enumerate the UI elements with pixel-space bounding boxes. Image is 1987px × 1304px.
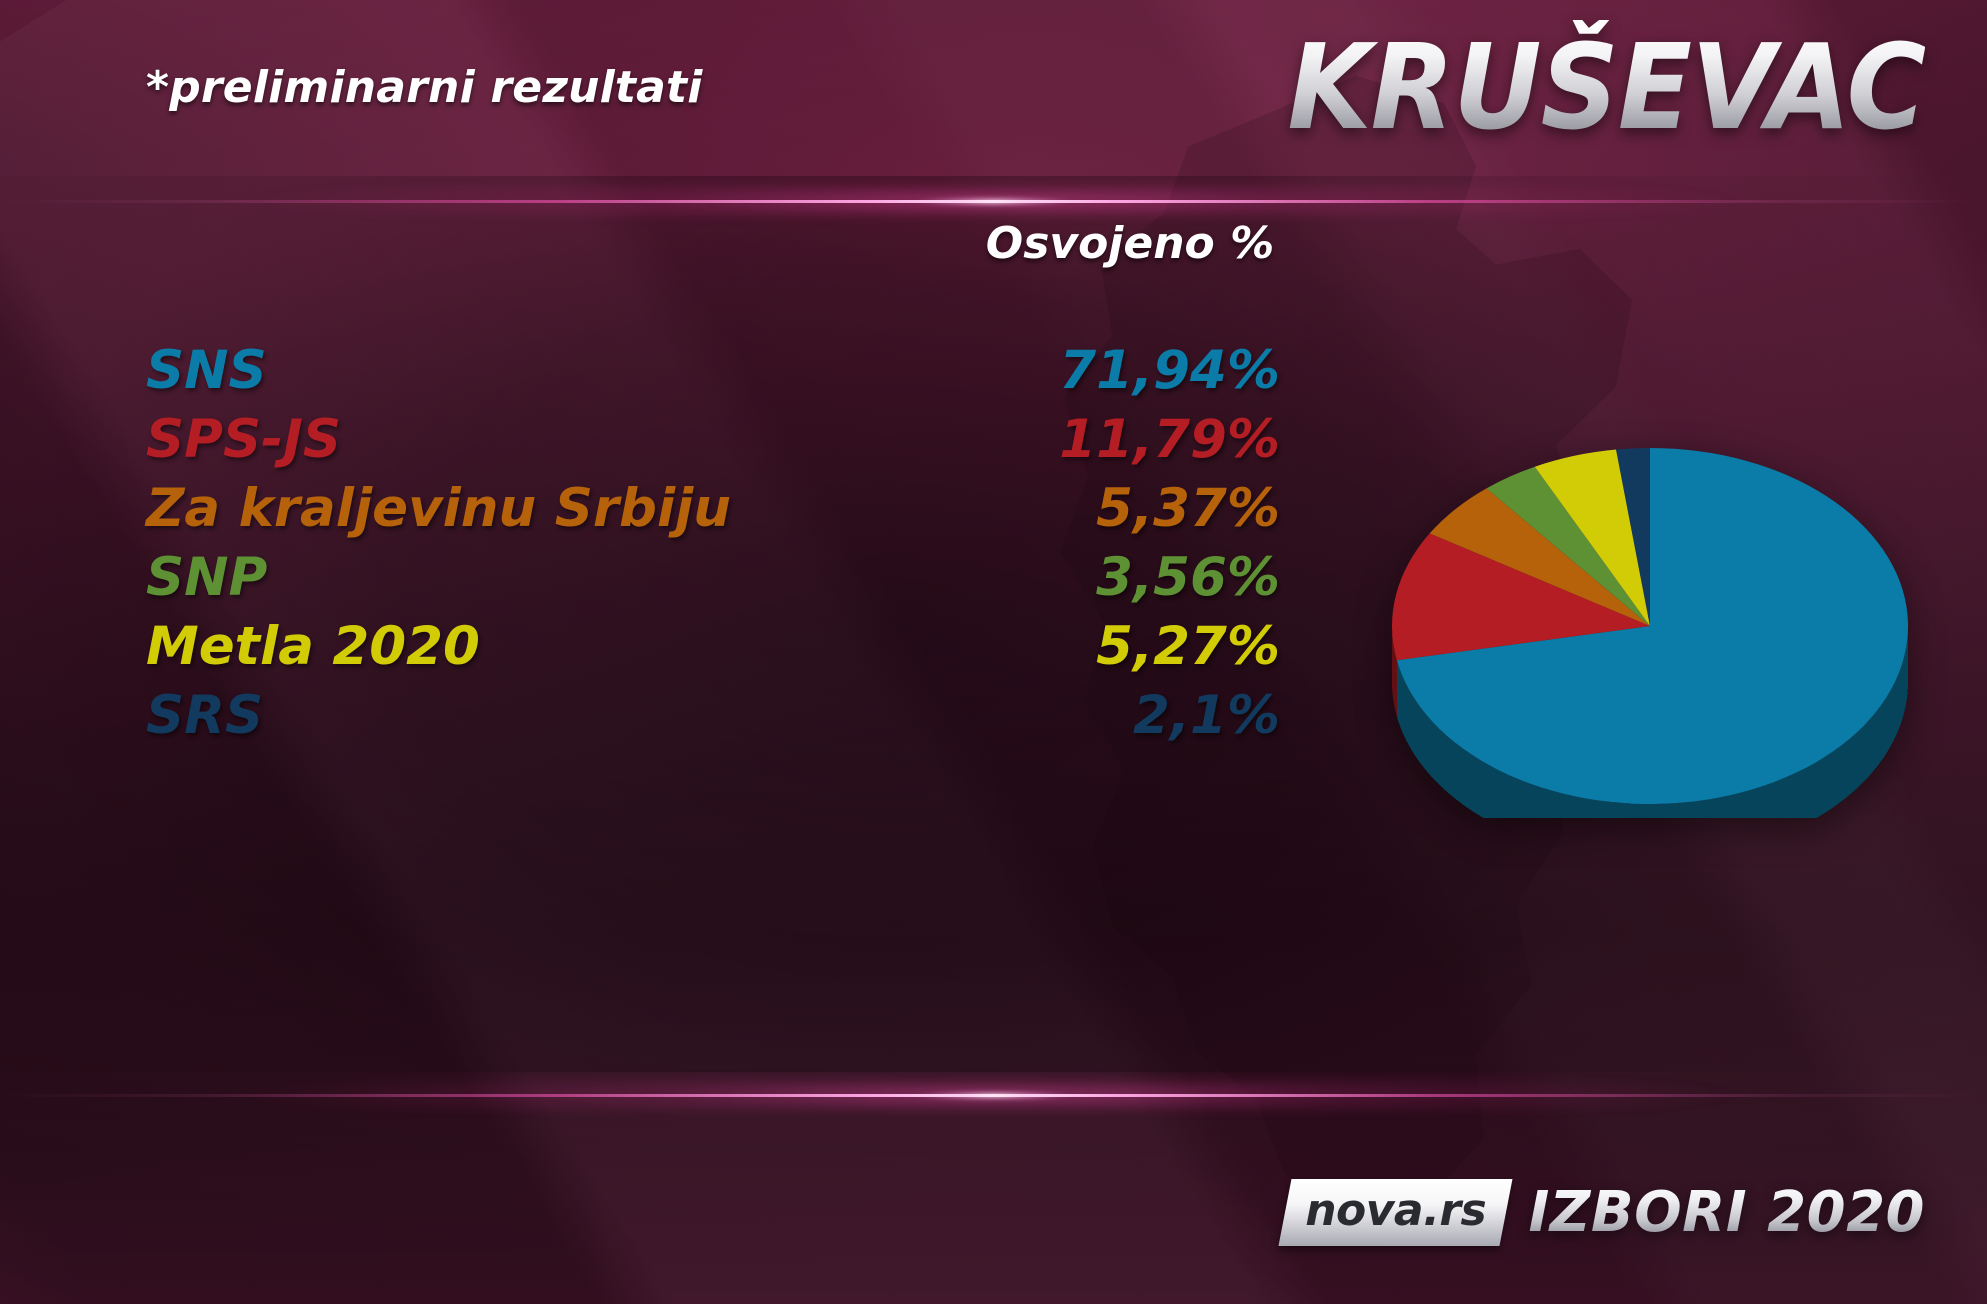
footer: nova.rs IZBORI 2020: [1285, 1179, 1925, 1246]
party-percent-sps-js: 11,79%: [830, 413, 1280, 466]
table-row: Za kraljevinu Srbiju 5,37%: [0, 482, 1300, 551]
table-row: SNP 3,56%: [0, 551, 1300, 620]
table-row: SNS 71,94%: [0, 344, 1300, 413]
event-title: IZBORI 2020: [1528, 1180, 1925, 1245]
table-row: SRS 2,1%: [0, 689, 1300, 758]
table-row: SPS-JS 11,79%: [0, 413, 1300, 482]
nova-rs-logo-text: nova.rs: [1306, 1188, 1487, 1235]
preliminary-results-note: *preliminarni rezultati: [146, 62, 703, 113]
party-percent-snp: 3,56%: [830, 551, 1280, 604]
table-row: Metla 2020 5,27%: [0, 620, 1300, 689]
party-name-za-kraljevinu-srbiju: Za kraljevinu Srbiju: [146, 482, 731, 535]
party-name-metla-2020: Metla 2020: [146, 620, 480, 673]
party-percent-sns: 71,94%: [830, 344, 1280, 397]
results-table: SNS 71,94% SPS-JS 11,79% Za kraljevinu S…: [0, 344, 1300, 758]
city-title: KRUŠEVAC: [1287, 20, 1925, 156]
party-name-srs: SRS: [146, 689, 263, 742]
party-percent-za-kraljevinu-srbiju: 5,37%: [830, 482, 1280, 535]
column-header-percent: Osvojeno %: [980, 218, 1280, 269]
pie-chart: [1330, 398, 1970, 818]
party-percent-srs: 2,1%: [830, 689, 1280, 742]
party-name-sps-js: SPS-JS: [146, 413, 341, 466]
nova-rs-logo[interactable]: nova.rs: [1279, 1179, 1513, 1246]
party-name-sns: SNS: [146, 344, 267, 397]
party-name-snp: SNP: [146, 551, 267, 604]
graphic-stage: *preliminarni rezultati KRUŠEVAC Osvojen…: [0, 0, 1987, 1304]
pie-top-faces: [1392, 448, 1908, 804]
party-percent-metla-2020: 5,27%: [830, 620, 1280, 673]
